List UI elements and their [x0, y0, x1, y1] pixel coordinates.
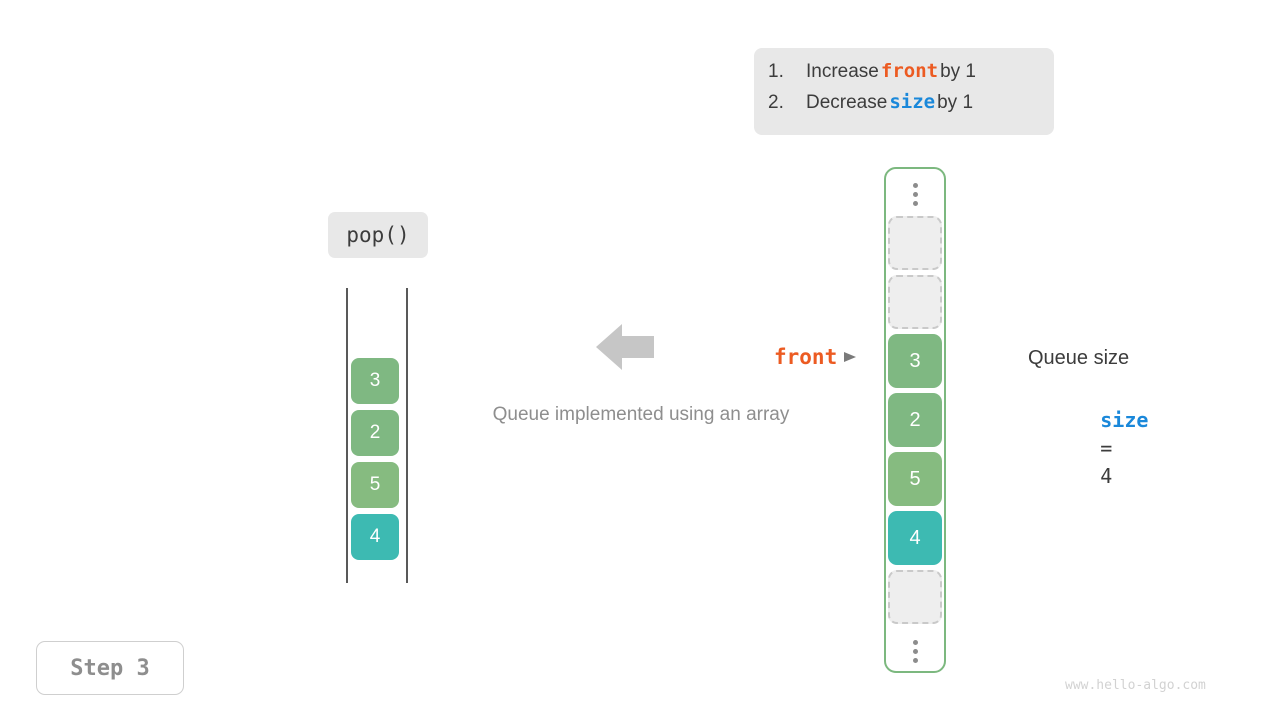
left-array-stack: 3254	[351, 358, 399, 566]
step-badge: Step 3	[36, 641, 184, 695]
ring-buffer-cells: 3254	[888, 172, 942, 673]
queue-size-value: 4	[1100, 464, 1112, 488]
instruction-item-1: 1. Increase front by 1	[768, 60, 1036, 91]
instruction-item-2: 2. Decrease size by 1	[768, 91, 1036, 122]
array-rail-right	[406, 288, 408, 583]
flow-arrow-left-icon	[596, 322, 654, 372]
instruction-item-2-prefix: Decrease	[806, 92, 887, 114]
instruction-item-1-suffix: by 1	[940, 61, 976, 83]
queue-size-variable: size	[1100, 408, 1148, 432]
ring-cell-filled: 5	[888, 452, 942, 506]
instruction-item-2-variable: size	[889, 91, 935, 113]
ring-bottom-ellipsis-icon	[913, 629, 918, 673]
illustration-canvas: 1. Increase front by 1 2. Decrease size …	[0, 0, 1280, 720]
instruction-item-2-number: 2.	[768, 92, 806, 114]
instruction-panel: 1. Increase front by 1 2. Decrease size …	[754, 48, 1054, 135]
watermark: www.hello-algo.com	[1065, 678, 1206, 693]
ring-cell-filled: 2	[888, 393, 942, 447]
left-array-cell: 4	[351, 514, 399, 560]
instruction-item-1-variable: front	[881, 60, 938, 82]
front-pointer-arrow-icon	[843, 350, 857, 364]
front-pointer: front	[774, 345, 857, 369]
ring-cell-empty	[888, 275, 942, 329]
queue-size-block: Queue size size = 4	[1028, 344, 1148, 518]
instruction-item-2-suffix: by 1	[937, 92, 973, 114]
front-pointer-label: front	[774, 345, 837, 369]
queue-size-title: Queue size	[1028, 344, 1148, 372]
pop-operation-label: pop()	[328, 212, 428, 258]
left-array-cell: 5	[351, 462, 399, 508]
array-caption: Queue implemented using an array	[455, 404, 827, 426]
ring-cell-filled: 3	[888, 334, 942, 388]
ring-top-ellipsis-icon	[913, 172, 918, 216]
left-array-cell: 2	[351, 410, 399, 456]
queue-size-expression: size = 4	[1028, 378, 1148, 518]
ring-cell-empty	[888, 570, 942, 624]
instruction-item-1-prefix: Increase	[806, 61, 879, 83]
ring-cell-filled: 4	[888, 511, 942, 565]
left-array-cell: 3	[351, 358, 399, 404]
instruction-item-1-number: 1.	[768, 61, 806, 83]
ring-cell-empty	[888, 216, 942, 270]
queue-size-equals: =	[1100, 436, 1112, 460]
array-rail-left	[346, 288, 348, 583]
